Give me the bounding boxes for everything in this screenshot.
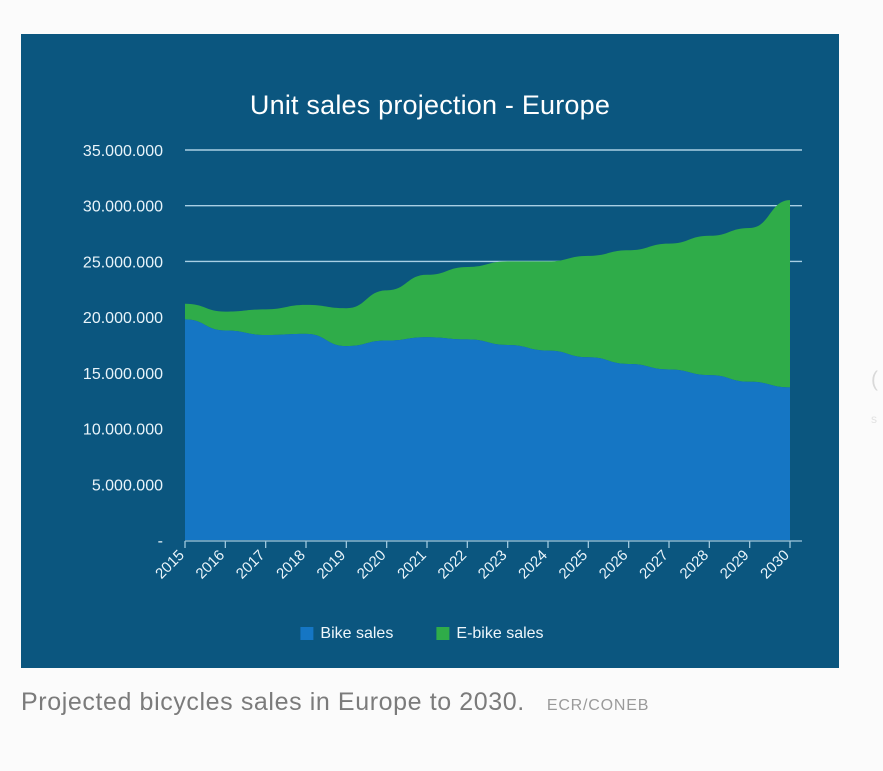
x-axis-tick-label: 2029 — [717, 547, 753, 583]
legend-label[interactable]: Bike sales — [320, 625, 393, 642]
x-axis-tick-label: 2026 — [596, 547, 632, 583]
chart-ylabels: -5.000.00010.000.00015.000.00020.000.000… — [83, 143, 163, 550]
y-axis-tick-label: 30.000.000 — [83, 199, 163, 216]
y-axis-tick-label: 35.000.000 — [83, 143, 163, 160]
caption-credit: ECR/CONEB — [547, 697, 649, 715]
y-axis-tick-label: - — [158, 533, 163, 550]
x-axis-tick-label: 2028 — [677, 547, 713, 583]
x-axis-tick-label: 2022 — [435, 547, 471, 583]
x-axis-tick-label: 2017 — [233, 547, 269, 583]
chart-axis — [185, 541, 802, 548]
side-fragment-glyph-bottom: s — [871, 412, 877, 426]
x-axis-tick-label: 2020 — [354, 547, 390, 583]
unit-sales-area-chart: -5.000.00010.000.00015.000.00020.000.000… — [21, 34, 839, 668]
y-axis-tick-label: 20.000.000 — [83, 310, 163, 327]
x-axis-tick-label: 2021 — [394, 547, 430, 583]
y-axis-tick-label: 5.000.000 — [92, 477, 163, 494]
chart-xlabels: 2015201620172018201920202021202220232024… — [152, 547, 793, 583]
chart-panel: -5.000.00010.000.00015.000.00020.000.000… — [21, 34, 839, 668]
x-axis-tick-label: 2018 — [273, 547, 309, 583]
clipped-side-content: ( s — [869, 368, 883, 438]
y-axis-tick-label: 10.000.000 — [83, 422, 163, 439]
legend-swatch — [436, 627, 449, 640]
caption-text: Projected bicycles sales in Europe to 20… — [21, 688, 525, 717]
chart-title: Unit sales projection - Europe — [250, 90, 610, 120]
chart-legend: Bike salesE-bike sales — [300, 625, 543, 642]
x-axis-tick-label: 2016 — [193, 547, 229, 583]
x-axis-tick-label: 2025 — [556, 547, 592, 583]
x-axis-tick-label: 2027 — [636, 547, 672, 583]
page-root: -5.000.00010.000.00015.000.00020.000.000… — [0, 0, 883, 771]
x-axis-tick-label: 2030 — [757, 547, 793, 583]
y-axis-tick-label: 15.000.000 — [83, 366, 163, 383]
x-axis-tick-label: 2023 — [475, 547, 511, 583]
legend-swatch — [300, 627, 313, 640]
chart-areas — [185, 200, 790, 540]
x-axis-tick-label: 2024 — [515, 547, 551, 583]
x-axis-tick-label: 2015 — [152, 547, 188, 583]
side-fragment-glyph-top: ( — [871, 368, 878, 392]
x-axis-tick-label: 2019 — [314, 547, 350, 583]
legend-label[interactable]: E-bike sales — [456, 625, 543, 642]
caption-row: Projected bicycles sales in Europe to 20… — [21, 688, 883, 736]
y-axis-tick-label: 25.000.000 — [83, 254, 163, 271]
